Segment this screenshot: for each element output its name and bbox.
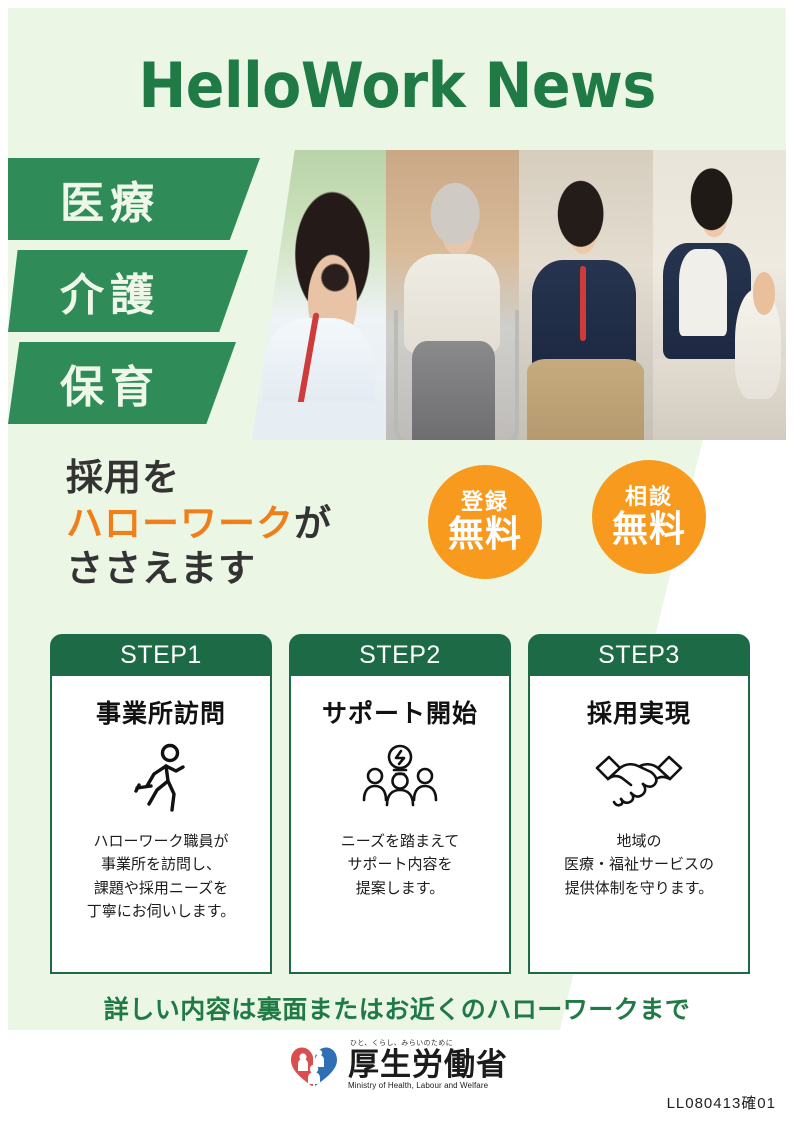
step-card-1-text-line: 課題や採用ニーズを	[87, 877, 236, 900]
page-title-area: HelloWork News	[8, 30, 786, 140]
caregiver-pants-shape	[527, 359, 644, 440]
badge-consultation-value: 無料	[612, 509, 686, 549]
lightbulb-team-icon	[357, 742, 443, 816]
poster-root: HelloWork News 医療 介護 保育	[0, 0, 794, 1123]
tagline-line-1: 採用を	[66, 455, 426, 501]
step-card-3-text-line: 医療・福祉サービスの	[564, 853, 714, 876]
category-bands: 医療 介護 保育	[8, 158, 278, 430]
photo-pane-parent-baby	[653, 150, 787, 440]
step-card-3-header: STEP3	[528, 634, 750, 676]
badge-registration-value: 無料	[448, 514, 522, 554]
tagline-line-2-suffix: が	[294, 503, 332, 544]
footer-note: 詳しい内容は裏面またはお近くのハローワークまで	[8, 990, 786, 1026]
step-card-2: STEP2 サポート開始	[289, 634, 511, 974]
step-card-2-text-line: 提案します。	[341, 877, 460, 900]
step-card-3-text-line: 地域の	[564, 830, 714, 853]
step-card-1: STEP1 事業所訪問 ハローワーク職員が 事業所	[50, 634, 272, 974]
ministry-logo-texts: ひと、くらし、みらいのために 厚生労働省 Ministry of Health,…	[348, 1040, 508, 1090]
step-card-2-text-line: ニーズを踏まえて	[341, 830, 460, 853]
photo-pane-caregiver	[519, 150, 653, 440]
badge-consultation-free: 相談 無料	[592, 460, 706, 574]
ministry-logo: ひと、くらし、みらいのために 厚生労働省 Ministry of Health,…	[288, 1036, 512, 1094]
tagline-hellowork-highlight: ハローワーク	[66, 503, 294, 544]
hero-photo-collage	[252, 150, 786, 440]
main-tagline: 採用を ハローワークが ささえます	[66, 455, 426, 592]
step-card-2-title: サポート開始	[322, 694, 478, 730]
caregiver-lanyard-shape	[580, 266, 586, 341]
ministry-name-jp: 厚生労働省	[348, 1049, 508, 1080]
step-card-1-text: ハローワーク職員が 事業所を訪問し、 課題や採用ニーズを 丁寧にお伺いします。	[87, 830, 236, 923]
badge-registration-label: 登録	[461, 490, 509, 513]
handshake-icon	[591, 742, 687, 816]
category-band-medical: 医療	[8, 158, 260, 240]
steps-row: STEP1 事業所訪問 ハローワーク職員が 事業所	[50, 634, 750, 974]
step-card-3-text-line: 提供体制を守ります。	[564, 877, 714, 900]
step-card-2-text: ニーズを踏まえて サポート内容を 提案します。	[341, 830, 460, 900]
ministry-tagline: ひと、くらし、みらいのために	[350, 1040, 508, 1047]
ministry-name-en: Ministry of Health, Labour and Welfare	[348, 1082, 508, 1090]
step-card-1-text-line: ハローワーク職員が	[87, 830, 236, 853]
step-card-2-text-line: サポート内容を	[341, 853, 460, 876]
badge-consultation-label: 相談	[625, 485, 673, 508]
step-card-2-header: STEP2	[289, 634, 511, 676]
parent-tee-shape	[679, 249, 727, 336]
step-card-3-title: 採用実現	[587, 694, 691, 730]
step-card-3-text: 地域の 医療・福祉サービスの 提供体制を守ります。	[564, 830, 714, 900]
wheelchair-shape	[394, 310, 519, 441]
step-card-1-body: 事業所訪問 ハローワーク職員が 事業所を訪問し、 課題や採用	[50, 676, 272, 974]
step-card-1-title: 事業所訪問	[96, 694, 226, 730]
category-band-nursingcare: 介護	[8, 250, 248, 332]
step-card-3: STEP3 採用実現	[528, 634, 750, 974]
tagline-line-3: ささえます	[66, 546, 426, 592]
step-card-2-body: サポート開始 ニーズを	[289, 676, 511, 974]
mhlw-heart-figures-icon	[288, 1040, 340, 1090]
page-title: HelloWork News	[138, 49, 655, 122]
step-card-1-header: STEP1	[50, 634, 272, 676]
step-card-1-text-line: 事業所を訪問し、	[87, 853, 236, 876]
step-card-3-body: 採用実現 地域の	[528, 676, 750, 974]
step-card-1-text-line: 丁寧にお伺いします。	[87, 900, 236, 923]
photo-pane-elderly	[386, 150, 520, 440]
category-band-childcare: 保育	[8, 342, 236, 424]
badge-registration-free: 登録 無料	[428, 465, 542, 579]
running-person-icon	[127, 742, 195, 816]
tagline-line-2: ハローワークが	[66, 501, 426, 547]
desk-shape	[252, 402, 386, 440]
document-code: LL080413確01	[667, 1092, 776, 1113]
